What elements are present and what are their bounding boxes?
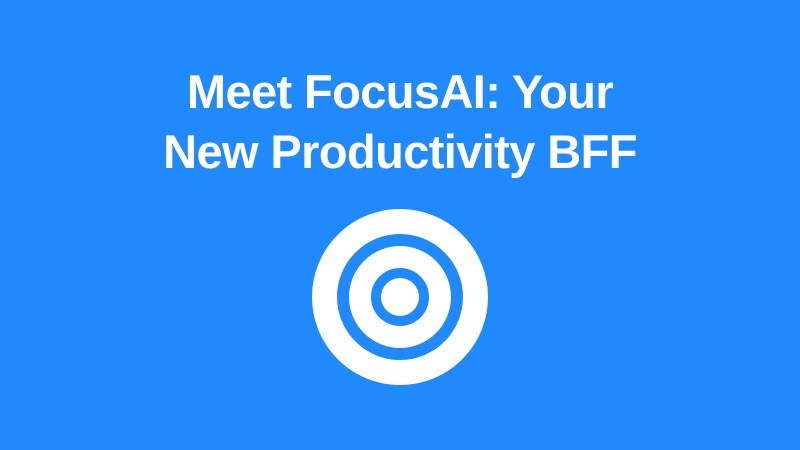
page-title: Meet FocusAI: Your New Productivity BFF bbox=[0, 62, 800, 182]
target-bullseye-icon bbox=[312, 209, 488, 385]
page-title-line-1: Meet FocusAI: Your bbox=[0, 62, 800, 122]
target-bullseye-glyph bbox=[312, 209, 488, 385]
target-center-dot-halo bbox=[381, 278, 419, 316]
promo-slide: Meet FocusAI: Your New Productivity BFF bbox=[0, 0, 800, 450]
page-title-line-2: New Productivity BFF bbox=[0, 122, 800, 182]
